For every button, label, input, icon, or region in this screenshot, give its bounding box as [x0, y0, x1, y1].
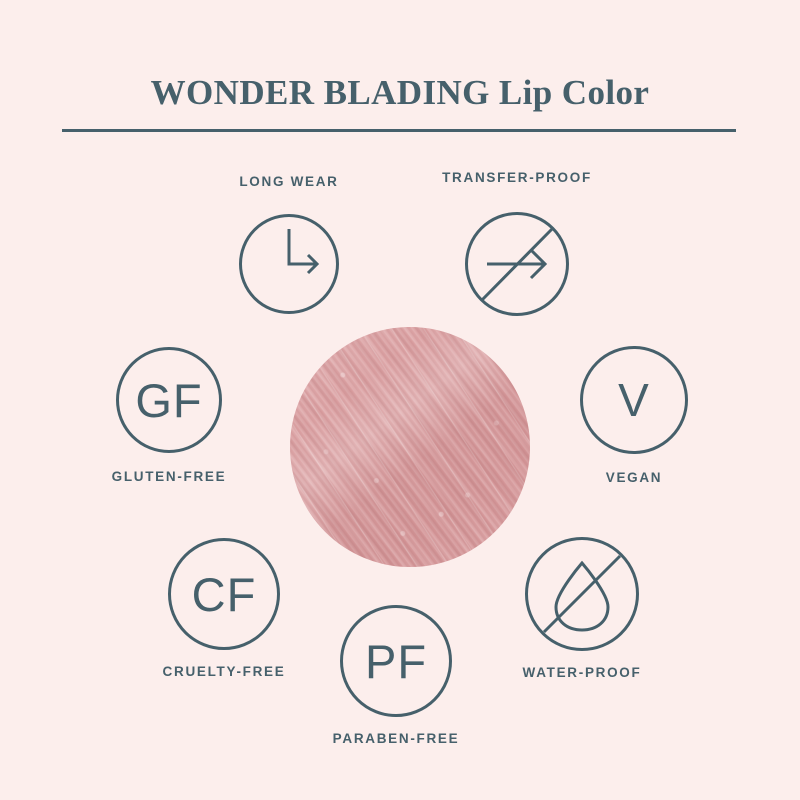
badge-initials-cruelty-free: CF: [168, 538, 280, 650]
badge-label-long-wear: LONG WEAR: [174, 174, 404, 189]
badge-label-water-proof: WATER-PROOF: [467, 665, 697, 680]
badge-label-cruelty-free: CRUELTY-FREE: [110, 664, 338, 679]
badge-vegan: V VEGAN: [580, 346, 688, 454]
badge-label-paraben-free: PARABEN-FREE: [281, 731, 511, 746]
badge-initials-vegan: V: [580, 346, 688, 454]
swatch-texture-specks: [290, 327, 530, 567]
badge-label-vegan: VEGAN: [520, 470, 748, 485]
badge-label-gluten-free: GLUTEN-FREE: [56, 469, 282, 484]
lipstick-color-swatch: [290, 327, 530, 567]
badge-transfer-proof: TRANSFER-PROOF: [465, 212, 569, 316]
badge-long-wear: LONG WEAR: [239, 214, 339, 314]
badge-paraben-free: PF PARABEN-FREE: [340, 605, 452, 717]
page-title: WONDER BLADING Lip Color: [0, 73, 800, 113]
badge-initials-paraben-free: PF: [340, 605, 452, 717]
clock-icon: [239, 214, 339, 314]
badge-label-transfer-proof: TRANSFER-PROOF: [392, 170, 642, 185]
product-benefits-infographic: WONDER BLADING Lip Color LONG WEAR TRANS…: [0, 0, 800, 800]
no-water-droplet-icon: [525, 537, 639, 651]
badge-cruelty-free: CF CRUELTY-FREE: [168, 538, 280, 650]
badge-water-proof: WATER-PROOF: [525, 537, 639, 651]
title-divider: [62, 129, 736, 132]
badge-initials-gluten-free: GF: [116, 347, 222, 453]
no-transfer-arrow-icon: [465, 212, 569, 316]
badge-gluten-free: GF GLUTEN-FREE: [116, 347, 222, 453]
